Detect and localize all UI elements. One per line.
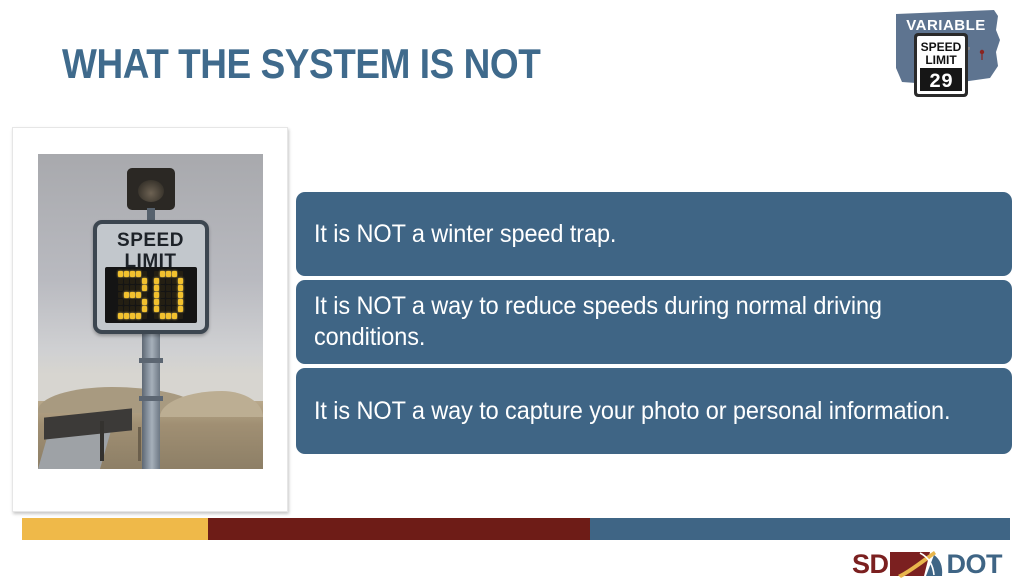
photo-led-display xyxy=(105,267,197,323)
photo-pole-band-lower xyxy=(139,396,163,401)
photo-sign-speed-text: SPEED xyxy=(97,230,205,251)
bottom-accent-bar xyxy=(22,518,1010,540)
photo-post-left xyxy=(100,421,104,461)
photo-beacon-housing xyxy=(127,168,175,210)
sddot-sd-text: SD xyxy=(852,551,889,578)
variable-speed-limit-sign-photo: SPEED LIMIT xyxy=(12,127,288,512)
logo-speed-limit-sign: SPEED LIMIT 29 xyxy=(914,33,968,97)
accent-segment-gold xyxy=(22,518,208,540)
photo-pole-band-upper xyxy=(139,358,163,363)
sddot-logo: SD DOT xyxy=(852,547,1002,581)
logo-sign-value: 29 xyxy=(929,71,953,94)
callout-list: It is NOT a winter speed trap. It is NOT… xyxy=(296,192,1012,458)
logo-sign-speed: SPEED xyxy=(921,40,962,54)
sddot-emblem-icon xyxy=(890,549,946,579)
callout-text-1: It is NOT a winter speed trap. xyxy=(314,219,616,250)
photo-image: SPEED LIMIT xyxy=(38,154,263,469)
photo-speed-limit-sign: SPEED LIMIT xyxy=(93,220,209,334)
accent-segment-blue xyxy=(590,518,1010,540)
photo-led-digit-0 xyxy=(154,271,183,319)
sddot-dot-text: DOT xyxy=(947,551,1003,578)
callout-box-1: It is NOT a winter speed trap. xyxy=(296,192,1012,276)
logo-variable-text: VARIABLE xyxy=(906,17,986,34)
photo-beacon-lens xyxy=(138,180,164,202)
logo-sign-limit: LIMIT xyxy=(925,53,957,67)
callout-box-2: It is NOT a way to reduce speeds during … xyxy=(296,280,1012,364)
callout-text-3: It is NOT a way to capture your photo or… xyxy=(314,396,950,427)
callout-text-2: It is NOT a way to reduce speeds during … xyxy=(314,291,953,353)
page-title: WHAT THE SYSTEM IS NOT xyxy=(62,40,540,88)
photo-led-digit-3 xyxy=(118,271,147,319)
variable-speed-limit-logo: VARIABLE Pierre SPEED LIMIT 29 xyxy=(890,6,1006,102)
callout-box-3: It is NOT a way to capture your photo or… xyxy=(296,368,1012,454)
accent-segment-maroon xyxy=(208,518,590,540)
